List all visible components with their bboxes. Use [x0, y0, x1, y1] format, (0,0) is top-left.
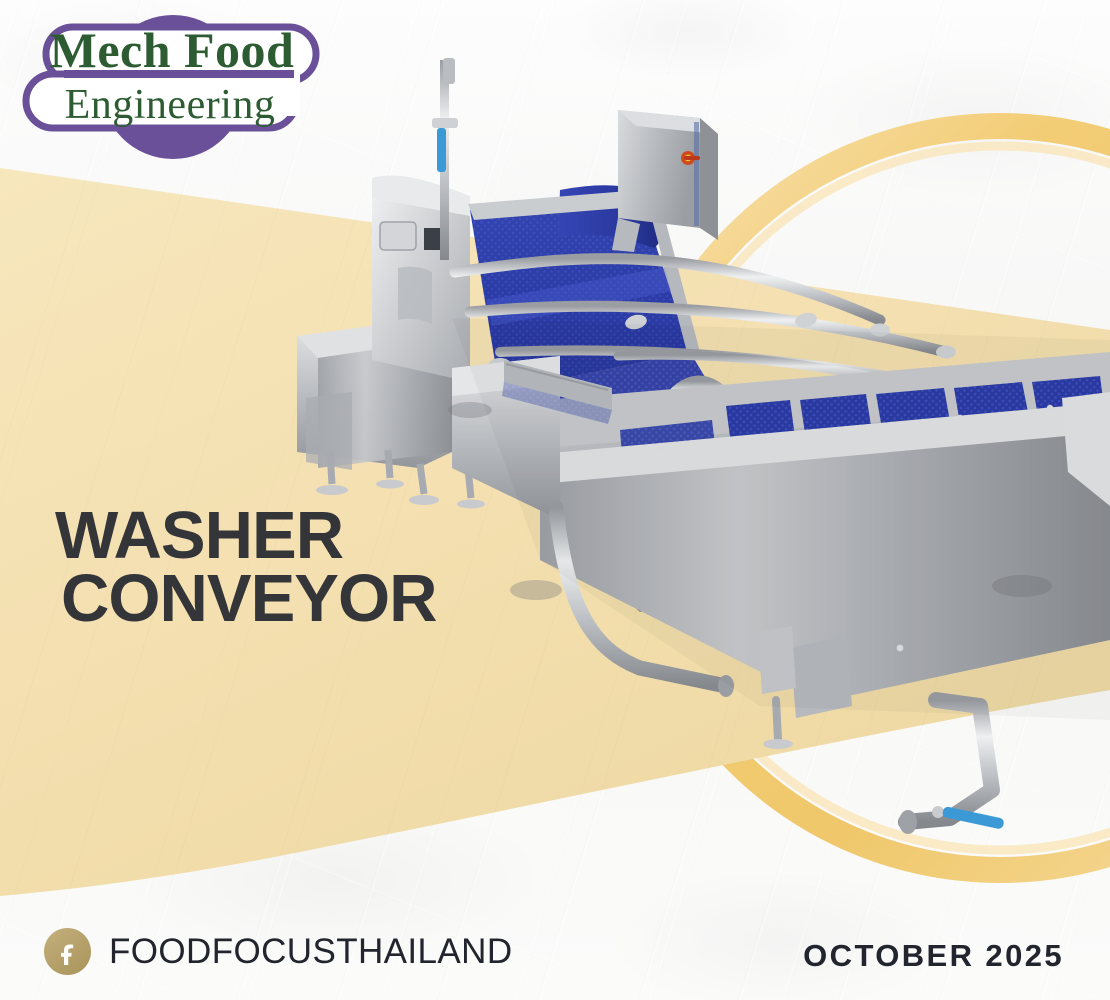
headline-line-1: WASHER: [55, 505, 575, 568]
brand-logo: Mech Food Engineering: [18, 8, 338, 166]
incline-frame: [372, 58, 470, 382]
outlet-valve-pipe: [899, 700, 1005, 834]
poster-canvas: Mech Food Engineering WASHER CONVEYOR FO…: [0, 0, 1110, 1000]
logo-text-line2: Engineering: [65, 82, 276, 128]
headline-line-2: CONVEYOR: [55, 568, 575, 631]
page-title: WASHER CONVEYOR: [55, 505, 575, 631]
issue-date: OCTOBER 2025: [803, 938, 1064, 974]
social-handle-text: FOODFOCUSTHAILAND: [109, 932, 513, 972]
social-handle-row[interactable]: FOODFOCUSTHAILAND: [44, 928, 513, 975]
facebook-icon[interactable]: [44, 928, 91, 975]
logo-text-line1: Mech Food: [50, 22, 295, 78]
